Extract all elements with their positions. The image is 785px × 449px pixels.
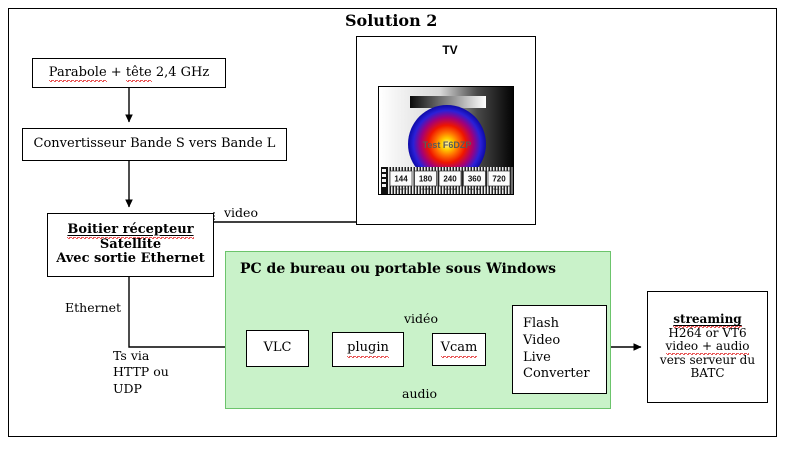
plus-separator: + xyxy=(107,65,126,80)
streaming-line-3: vers serveur du xyxy=(660,353,755,367)
spellcheck-word: tête xyxy=(126,65,152,82)
streaming-line-1: H264 or VT6 xyxy=(668,326,746,340)
label-ethernet: Ethernet xyxy=(65,300,121,315)
tv-resolution-label: 180 xyxy=(419,175,433,184)
box-convertisseur: Convertisseur Bande S vers Bande L xyxy=(22,128,287,161)
frequency-text: 2,4 GHz xyxy=(152,65,210,80)
box-vlc-text: VLC xyxy=(264,341,292,356)
tv-screen: Test F6DZP 144lines Pal180lines Pal240li… xyxy=(378,86,514,195)
box-streaming: streaming H264 or VT6 video + audio vers… xyxy=(647,291,768,403)
wire-ethernet-to-vlc xyxy=(129,277,239,347)
tv-resolution-caption: lines Pal xyxy=(420,187,432,191)
tv-resolution-caption: lines Pal xyxy=(395,187,407,191)
box-vlc: VLC xyxy=(246,330,309,367)
spellcheck-word: Parabole xyxy=(49,65,107,82)
box-flash-video-live-converter: Flash Video Live Converter xyxy=(512,305,607,394)
box-boitier-text: Boitier récepteur Satellite Avec sortie … xyxy=(56,223,205,267)
tv-resolution-caption: lines Pal xyxy=(493,187,505,191)
tv-center-text: Test F6DZP xyxy=(423,140,472,150)
streaming-line-4: BATC xyxy=(690,366,724,380)
pc-region-title: PC de bureau ou portable sous Windows xyxy=(240,261,556,277)
box-plugin-text: plugin xyxy=(347,341,389,358)
flash-line-4: Converter xyxy=(523,366,590,381)
boitier-line-3: Avec sortie Ethernet xyxy=(56,251,205,266)
label-video-short: vidéo xyxy=(404,311,438,326)
tv-resolution-caption: lines Pal xyxy=(444,187,456,191)
flash-line-2: Video xyxy=(523,333,560,348)
label-video: video xyxy=(224,205,258,220)
tv-resolution-label: 360 xyxy=(468,175,482,184)
box-vcam-text: Vcam xyxy=(441,341,478,358)
tv-label: TV xyxy=(387,43,513,57)
box-plugin: plugin xyxy=(332,332,404,367)
label-ts-via: Ts via HTTP ou UDP xyxy=(113,348,169,397)
diagram-canvas: Solution 2 TV xyxy=(0,0,785,449)
box-parabole: Parabole + tête 2,4 GHz xyxy=(32,58,226,88)
box-parabole-text: Parabole + tête 2,4 GHz xyxy=(49,66,209,81)
tv-resolution-caption: lines Pal xyxy=(469,187,481,191)
tv-resolution-label: 144 xyxy=(394,175,408,184)
box-convertisseur-text: Convertisseur Bande S vers Bande L xyxy=(34,137,276,152)
box-flash-text: Flash Video Live Converter xyxy=(523,316,590,383)
tv-test-pattern: Test F6DZP 144lines Pal180lines Pal240li… xyxy=(379,87,514,195)
box-boitier-recepteur: Boitier récepteur Satellite Avec sortie … xyxy=(47,213,214,277)
flash-line-3: Live xyxy=(523,350,551,365)
page-title: Solution 2 xyxy=(345,11,437,30)
boitier-line-2: Satellite xyxy=(100,237,161,252)
tv-resolution-label: 240 xyxy=(443,175,457,184)
tv-resolution-label: 720 xyxy=(492,175,506,184)
flash-line-1: Flash xyxy=(523,316,559,331)
box-vcam: Vcam xyxy=(432,333,486,366)
box-streaming-text: streaming H264 or VT6 video + audio vers… xyxy=(660,313,755,380)
label-audio: audio xyxy=(402,386,437,401)
